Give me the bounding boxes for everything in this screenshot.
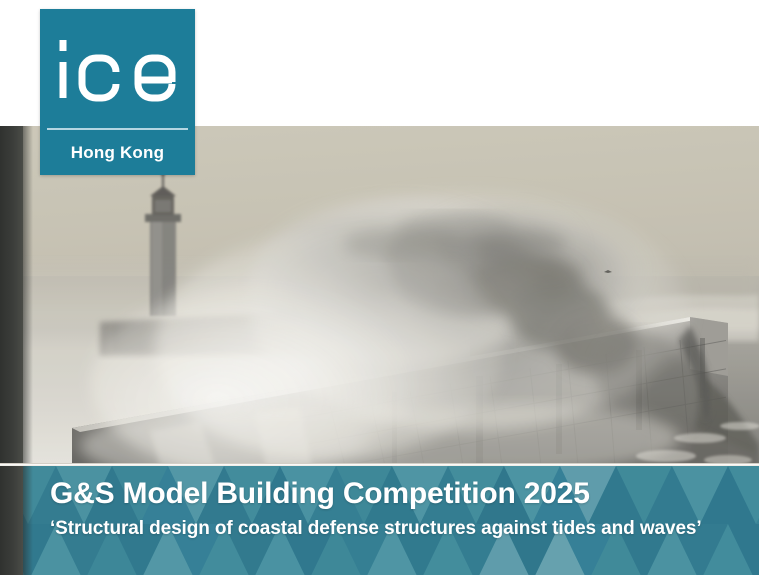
logo-region-text: Hong Kong: [71, 143, 164, 163]
left-edge-shadow: [23, 126, 33, 575]
photo-illustration: [0, 126, 759, 466]
poster-root: Hong Kong: [0, 0, 759, 575]
storm-waves-breakwater-photo: [0, 126, 759, 466]
ice-logo[interactable]: Hong Kong: [40, 9, 195, 175]
ice-wordmark-svg: [54, 36, 182, 102]
banner-subtitle: ‘Structural design of coastal defense st…: [50, 518, 702, 540]
banner-top-rule: [0, 463, 759, 466]
ice-wordmark-icon: [40, 9, 195, 128]
logo-region-label: Hong Kong: [40, 130, 195, 175]
title-banner: G&S Model Building Competition 2025 ‘Str…: [0, 466, 759, 575]
banner-text-block: G&S Model Building Competition 2025 ‘Str…: [50, 466, 750, 575]
dark-left-edge-strip: [0, 126, 23, 575]
banner-title: G&S Model Building Competition 2025: [50, 477, 590, 511]
